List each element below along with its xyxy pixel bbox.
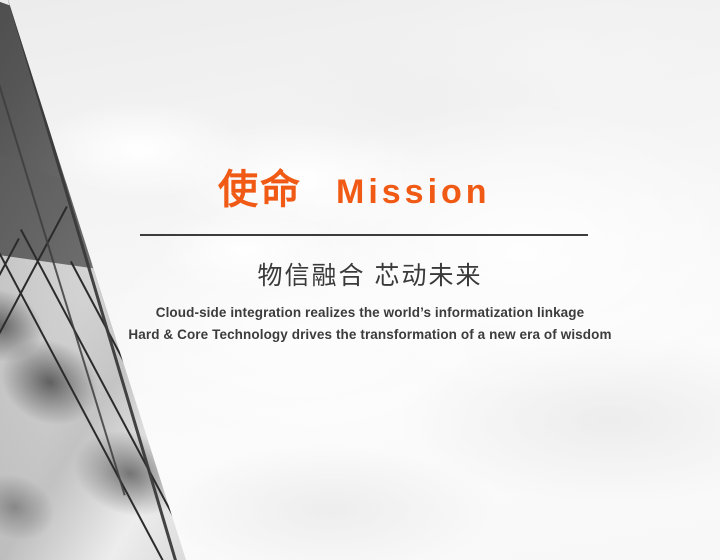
text-content: 使命 Mission 物信融合 芯动未来 Cloud-side integrat… [140, 0, 600, 560]
title-chinese: 使命 [218, 170, 302, 210]
title-divider [140, 234, 588, 236]
description-line-2: Hard & Core Technology drives the transf… [110, 324, 630, 346]
subtitle-chinese: 物信融合 芯动未来 [140, 258, 600, 294]
mission-banner: 使命 Mission 物信融合 芯动未来 Cloud-side integrat… [0, 0, 720, 560]
description-line-1: Cloud-side integration realizes the worl… [110, 302, 630, 324]
title-english: Mission [336, 175, 491, 209]
page-title: 使命 Mission [218, 170, 491, 210]
